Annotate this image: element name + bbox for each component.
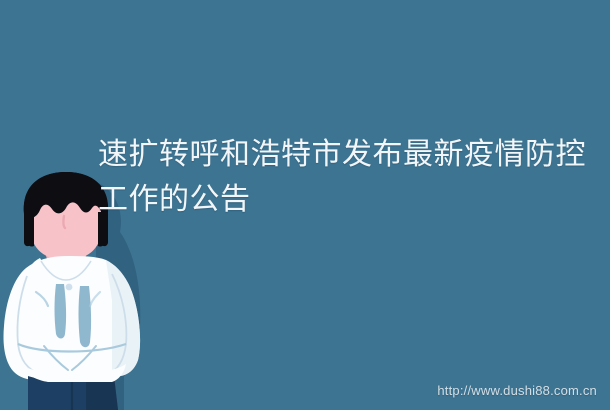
drawstring-right	[79, 286, 92, 347]
hair-side-left	[24, 212, 34, 247]
drawstring-left	[55, 284, 67, 339]
page-title: 速扩转呼和浩特市发布最新疫情防控工作的公告	[98, 132, 590, 222]
image-canvas: 速扩转呼和浩特市发布最新疫情防控工作的公告 http://www.dushi88…	[0, 0, 610, 410]
drawstring-eyelet	[66, 284, 73, 291]
watermark-url: http://www.dushi88.com.cn	[437, 383, 597, 398]
